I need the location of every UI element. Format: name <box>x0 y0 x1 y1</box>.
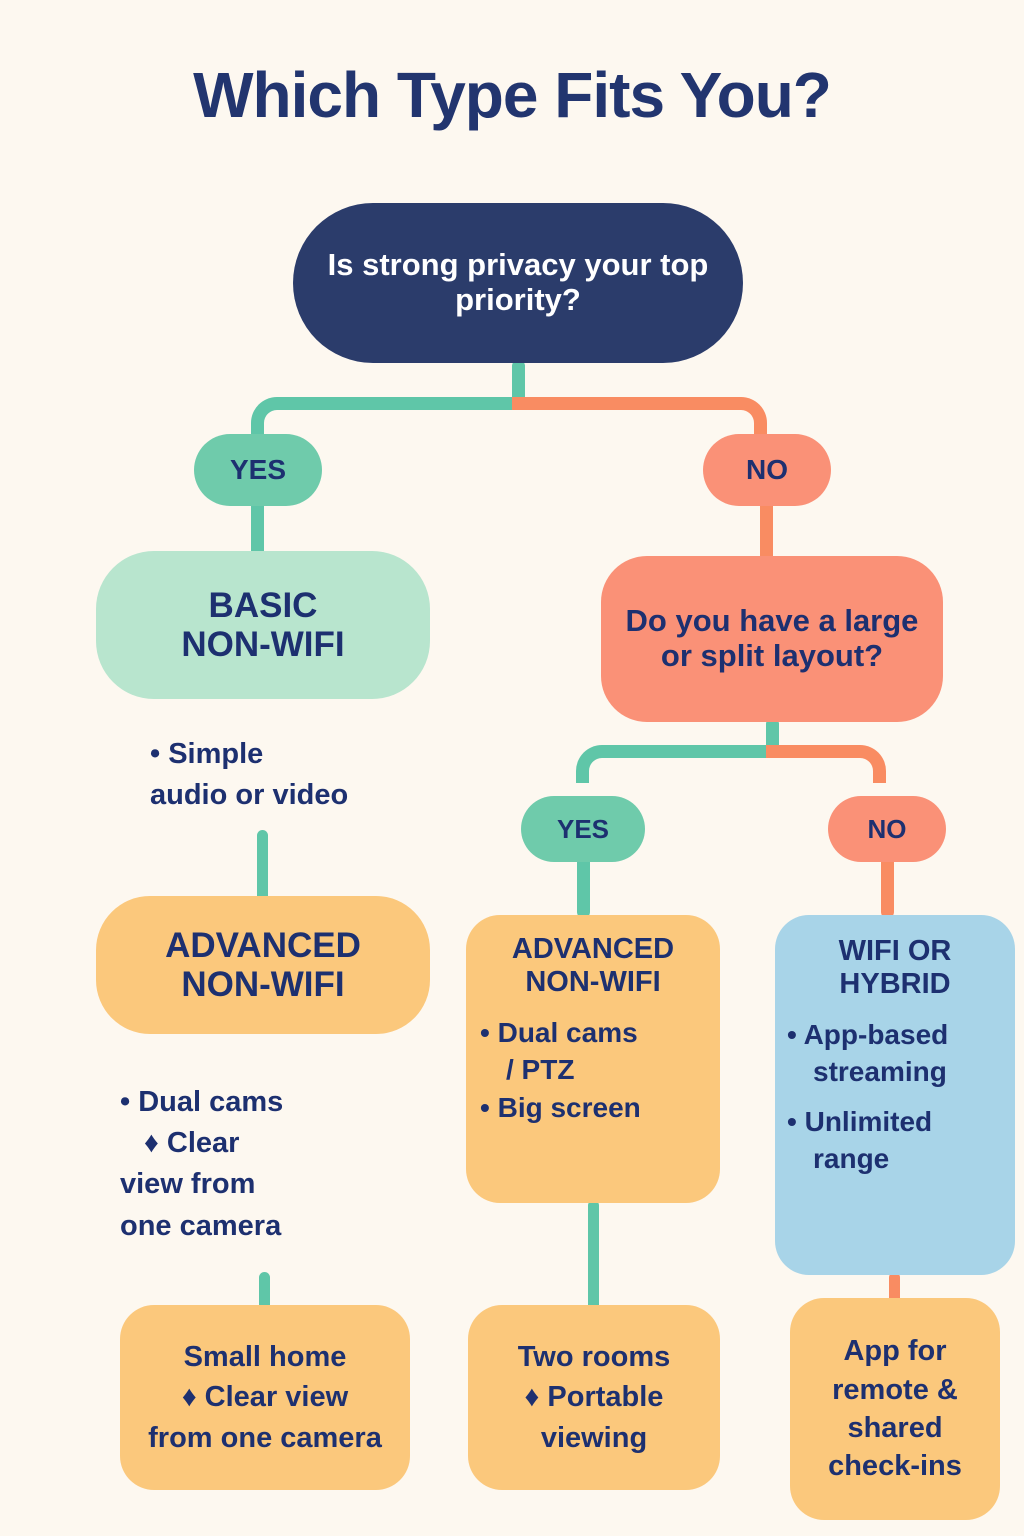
outcome-app-remote-line-4: check-ins <box>828 1450 962 1482</box>
advanced-mid-title-line-2: NON-WIFI <box>525 966 660 998</box>
basic-title-line-2: NON-WIFI <box>181 625 344 664</box>
result-basic-non-wifi[interactable]: BASIC NON-WIFI <box>96 551 430 699</box>
wifi-bullet-1-text: App-based <box>804 1019 949 1050</box>
advanced-mid-bullet-1: • Dual cams <box>480 1014 706 1052</box>
connector-yes2-to-advanced-mid <box>577 856 590 918</box>
branch-label-yes-2: YES <box>521 796 645 862</box>
advanced-mid-bullet-1-cont: / PTZ <box>480 1051 706 1089</box>
outcome-app-remote-text: App for remote & shared check-ins <box>828 1332 962 1485</box>
advanced-mid-bullet-2-text: / PTZ <box>506 1054 574 1085</box>
wifi-title-line-2: HYBRID <box>839 968 950 1000</box>
second-question-node[interactable]: Do you have a large or split layout? <box>601 556 943 722</box>
advanced-mid-bullet-list: • Dual cams / PTZ • Big screen <box>480 1014 706 1127</box>
advanced-left-bullet-2-text: Clear <box>167 1127 240 1159</box>
result-wifi-or-hybrid[interactable]: WIFI OR HYBRID • App-based streaming • U… <box>775 915 1015 1275</box>
branch-label-yes-1: YES <box>194 434 322 506</box>
diamond-marker-icon: ♦ <box>144 1127 159 1159</box>
outcome-small-home-line-2: ♦ Clear view <box>182 1381 348 1413</box>
bullet-marker: • <box>150 738 160 770</box>
advanced-left-bullet-3-text: view from <box>120 1168 255 1200</box>
wifi-bullet-2-cont: range <box>787 1140 1003 1178</box>
outcome-two-rooms-line-1: Two rooms <box>518 1341 671 1373</box>
wifi-bullet-1: • App-based <box>787 1016 1003 1054</box>
bullet-marker: • <box>787 1019 797 1050</box>
connector-q2-to-yes <box>576 745 773 783</box>
advanced-mid-bullet-1-text: Dual cams <box>498 1017 638 1048</box>
advanced-left-bullet-list: • Dual cams ♦ Clear view from one camera <box>120 1082 440 1247</box>
second-question-text: Do you have a large or split layout? <box>623 604 921 673</box>
outcome-app-remote-line-2: remote & <box>832 1374 958 1406</box>
basic-bullet-1-cont: audio or video <box>150 775 450 816</box>
outcome-small-home[interactable]: Small home ♦ Clear view from one camera <box>120 1305 410 1490</box>
basic-bullet-1-line-1: Simple <box>168 738 263 770</box>
advanced-left-bullet-4: one camera <box>120 1206 440 1247</box>
wifi-bullet-list: • App-based streaming • Unlimited range <box>787 1016 1003 1178</box>
basic-bullet-1: • Simple <box>150 734 450 775</box>
bullet-marker: • <box>120 1086 130 1118</box>
connector-no1-to-question2 <box>760 500 773 562</box>
root-question-node[interactable]: Is strong privacy your top priority? <box>293 203 743 363</box>
basic-bullet-list: • Simple audio or video <box>150 734 450 816</box>
outcome-small-home-line-3: from one camera <box>148 1422 382 1454</box>
advanced-mid-title: ADVANCED NON-WIFI <box>480 933 706 1000</box>
advanced-left-title-line-2: NON-WIFI <box>181 965 344 1004</box>
wifi-bullet-2-text: streaming <box>813 1056 947 1087</box>
outcome-two-rooms-line-3: viewing <box>541 1422 647 1454</box>
connector-no2-to-wifi <box>881 856 894 918</box>
branch-label-no-2: NO <box>828 796 946 862</box>
connector-root-to-no <box>512 397 767 437</box>
bullet-marker: • <box>480 1017 490 1048</box>
result-advanced-non-wifi-left[interactable]: ADVANCED NON-WIFI <box>96 896 430 1034</box>
bullet-marker: • <box>787 1106 797 1137</box>
outcome-app-remote-line-3: shared <box>847 1412 942 1444</box>
result-advanced-non-wifi-mid[interactable]: ADVANCED NON-WIFI • Dual cams / PTZ • Bi… <box>466 915 720 1203</box>
outcome-small-home-text: Small home ♦ Clear view from one camera <box>148 1337 382 1459</box>
bullet-marker: • <box>480 1092 490 1123</box>
advanced-left-bullet-1: • Dual cams <box>120 1082 440 1123</box>
wifi-bullet-1-cont: streaming <box>787 1053 1003 1091</box>
outcome-small-home-line-1: Small home <box>184 1341 347 1373</box>
wifi-bullet-2: • Unlimited <box>787 1103 1003 1141</box>
page-title: Which Type Fits You? <box>0 62 1024 129</box>
infographic-canvas: Which Type Fits You? YES NO Is strong pr… <box>0 0 1024 1536</box>
advanced-left-bullet-1-text: Dual cams <box>138 1086 283 1118</box>
basic-bullet-1-line-2: audio or video <box>150 779 348 811</box>
connector-root-to-yes <box>251 397 519 437</box>
advanced-mid-title-line-1: ADVANCED <box>512 933 674 965</box>
wifi-bullet-4-text: range <box>813 1143 889 1174</box>
outcome-two-rooms[interactable]: Two rooms ♦ Portable viewing <box>468 1305 720 1490</box>
wifi-bullet-spacer <box>787 1091 1003 1103</box>
advanced-left-bullet-4-text: one camera <box>120 1210 281 1242</box>
wifi-title: WIFI OR HYBRID <box>787 935 1003 1002</box>
connector-basic-to-advanced-left <box>257 830 268 902</box>
outcome-app-remote[interactable]: App for remote & shared check-ins <box>790 1298 1000 1520</box>
branch-label-no-1: NO <box>703 434 831 506</box>
wifi-title-line-1: WIFI OR <box>839 935 952 967</box>
advanced-mid-bullet-3-text: Big screen <box>498 1092 641 1123</box>
basic-title-line-1: BASIC <box>209 586 318 625</box>
root-question-text: Is strong privacy your top priority? <box>323 248 713 317</box>
advanced-left-title-line-1: ADVANCED <box>165 926 361 965</box>
advanced-left-bullet-3: view from <box>120 1164 440 1205</box>
advanced-mid-bullet-2: • Big screen <box>480 1089 706 1127</box>
outcome-two-rooms-line-2: ♦ Portable <box>525 1381 664 1413</box>
connector-advanced-mid-to-outcome <box>588 1200 599 1312</box>
wifi-bullet-3-text: Unlimited <box>805 1106 933 1137</box>
advanced-left-bullet-2: ♦ Clear <box>120 1123 440 1164</box>
connector-q2-to-no <box>766 745 886 783</box>
outcome-app-remote-line-1: App for <box>843 1335 946 1367</box>
outcome-two-rooms-text: Two rooms ♦ Portable viewing <box>518 1337 671 1459</box>
